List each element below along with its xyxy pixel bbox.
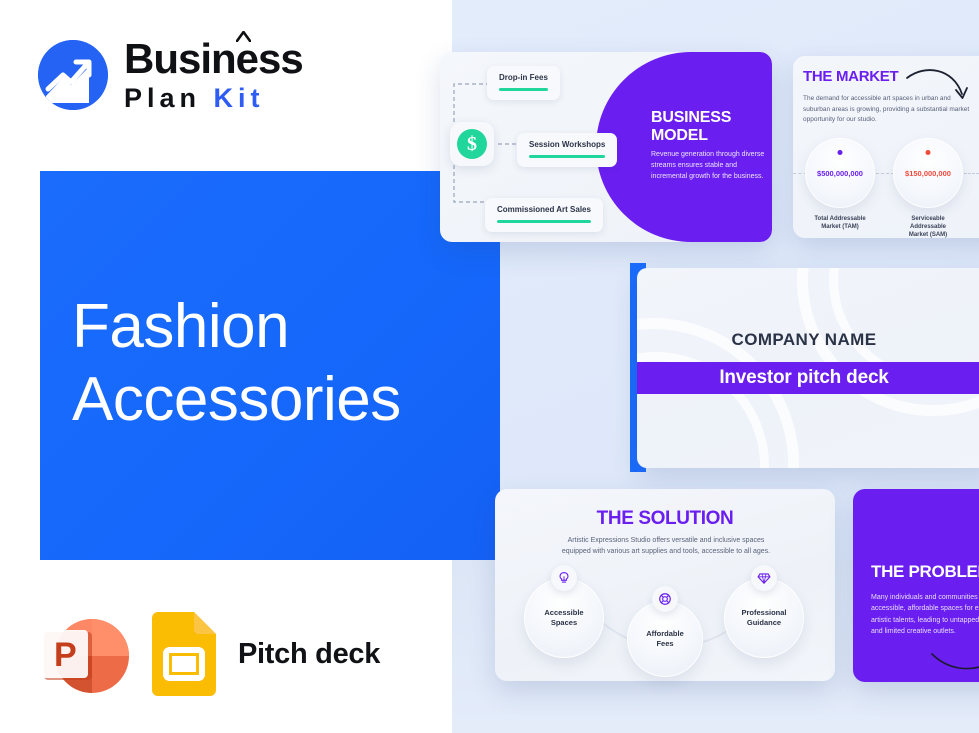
market-stat-dot bbox=[926, 150, 931, 155]
solution-body: Artistic Expressions Studio offers versa… bbox=[555, 535, 777, 558]
solution-node-circle: Affordable Fees bbox=[627, 601, 703, 677]
poster-canvas: Business Plan Kit Fashion Accessories bbox=[0, 0, 979, 733]
business-model-body: Revenue generation through diverse strea… bbox=[651, 150, 765, 183]
solution-node-label-line-1: Affordable bbox=[646, 629, 684, 640]
brand-line-2: Plan Kit bbox=[124, 85, 303, 112]
solution-node-label-line-1: Accessible bbox=[544, 608, 583, 619]
chip-underline bbox=[497, 220, 591, 223]
brand-line-2-plan: Plan bbox=[124, 83, 214, 113]
market-stat-sam: $150,000,000 Serviceable Addressable Mar… bbox=[893, 138, 963, 239]
market-stat-value: $500,000,000 bbox=[817, 169, 863, 178]
solution-node-affordable-fees[interactable]: Affordable Fees bbox=[627, 601, 703, 677]
solution-node-label-line-2: Spaces bbox=[544, 618, 583, 629]
business-model-title-line-1: BUSINESS bbox=[651, 109, 771, 127]
lightbulb-icon bbox=[551, 565, 577, 591]
market-title: THE MARKET bbox=[803, 68, 898, 85]
chip-underline bbox=[529, 155, 605, 158]
market-stat-circle: $500,000,000 bbox=[805, 138, 875, 208]
lifebuoy-icon bbox=[652, 586, 678, 612]
format-label: Pitch deck bbox=[238, 638, 380, 671]
circumflex-accent-icon bbox=[236, 31, 251, 42]
problem-curved-line-icon bbox=[930, 650, 979, 674]
diamond-icon bbox=[751, 565, 777, 591]
solution-node-label: Affordable Fees bbox=[646, 629, 684, 650]
solution-node-label-line-2: Fees bbox=[646, 639, 684, 650]
format-badges: P Pitch deck bbox=[40, 608, 380, 700]
market-stat-caption: Total Addressable Market (TAM) bbox=[805, 215, 875, 231]
solution-node-label-line-1: Professional bbox=[741, 608, 786, 619]
google-slides-file-icon bbox=[152, 612, 216, 696]
brand-line-1: Business bbox=[124, 38, 303, 80]
brand-line-2-kit: Kit bbox=[214, 83, 265, 113]
problem-body: Many individuals and communities lack ac… bbox=[871, 592, 979, 637]
market-body: The demand for accessible art spaces in … bbox=[803, 94, 971, 126]
market-stat-value: $150,000,000 bbox=[905, 169, 951, 178]
market-stat-circle: $150,000,000 bbox=[893, 138, 963, 208]
solution-title: THE SOLUTION bbox=[495, 508, 835, 530]
revenue-stream-chip[interactable]: Commissioned Art Sales bbox=[485, 198, 603, 232]
revenue-stream-label: Session Workshops bbox=[529, 140, 605, 149]
growth-arrow-chart-icon bbox=[38, 40, 108, 110]
revenue-stream-chip[interactable]: Session Workshops bbox=[517, 133, 617, 167]
revenue-stream-chip[interactable]: Drop-in Fees bbox=[487, 66, 560, 100]
market-connector-mid bbox=[876, 173, 894, 175]
business-model-purple-shape bbox=[596, 52, 772, 242]
dollar-glyph: $ bbox=[457, 129, 487, 159]
market-stat-tam: $500,000,000 Total Addressable Market (T… bbox=[805, 138, 875, 231]
brand-wordmark: Business Plan Kit bbox=[124, 38, 303, 112]
brand-logo: Business Plan Kit bbox=[38, 38, 303, 112]
solution-node-label: Professional Guidance bbox=[741, 608, 786, 629]
pitch-deck-company-name: COMPANY NAME bbox=[637, 330, 971, 350]
powerpoint-file-icon: P bbox=[40, 608, 130, 700]
page-title-line-2: Accessories bbox=[72, 363, 492, 436]
market-stat-caption: Serviceable Addressable Market (SAM) bbox=[893, 215, 963, 239]
problem-title: THE PROBLEM bbox=[871, 562, 979, 582]
solution-node-label: Accessible Spaces bbox=[544, 608, 583, 629]
market-stat-caption-line-1: Serviceable Addressable bbox=[893, 215, 963, 231]
brand-line-1-text: Business bbox=[124, 35, 303, 82]
page-title: Fashion Accessories bbox=[72, 290, 492, 436]
business-model-title: BUSINESS MODEL bbox=[651, 109, 771, 145]
business-model-title-line-2: MODEL bbox=[651, 127, 771, 145]
revenue-stream-label: Drop-in Fees bbox=[499, 73, 548, 82]
solution-node-label-line-2: Guidance bbox=[741, 618, 786, 629]
market-stat-caption-line-2: Market (TAM) bbox=[805, 223, 875, 231]
chip-underline bbox=[499, 88, 548, 91]
page-title-line-1: Fashion bbox=[72, 290, 492, 363]
dollar-sign-icon: $ bbox=[450, 122, 494, 166]
svg-text:P: P bbox=[54, 636, 77, 674]
revenue-stream-label: Commissioned Art Sales bbox=[497, 205, 591, 214]
market-stat-caption-line-1: Total Addressable bbox=[805, 215, 875, 223]
pitch-deck-subtitle-band: Investor pitch deck bbox=[637, 362, 979, 394]
market-connector-right bbox=[964, 173, 979, 175]
pitch-deck-subtitle: Investor pitch deck bbox=[637, 362, 971, 394]
market-stat-dot bbox=[838, 150, 843, 155]
market-stat-caption-line-2: Market (SAM) bbox=[893, 231, 963, 239]
